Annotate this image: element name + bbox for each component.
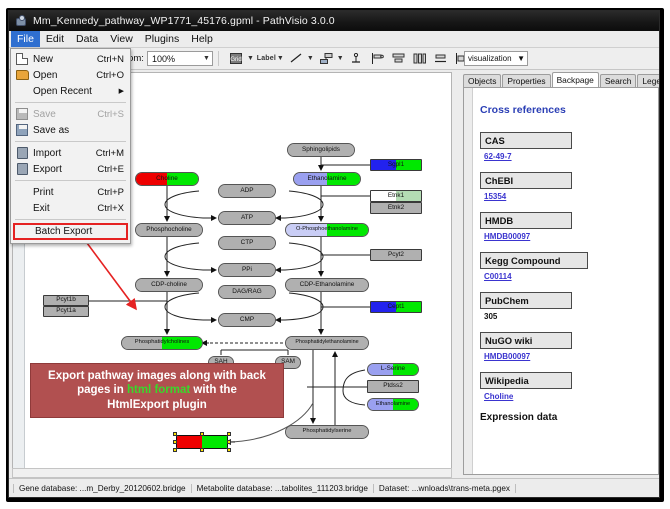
xref-link-kegg[interactable]: C00114 <box>484 272 512 281</box>
menu-separator <box>15 141 126 142</box>
xref-link-hmdb[interactable]: HMDB00097 <box>484 232 530 241</box>
xref-header-hmdb: HMDB <box>480 212 572 229</box>
xref-header-wikipedia: Wikipedia <box>480 372 572 389</box>
menu-item-shortcut: Ctrl+P <box>97 187 130 198</box>
menu-edit[interactable]: Edit <box>40 31 70 47</box>
menu-plugins[interactable]: Plugins <box>139 31 185 47</box>
menu-item-label: Print <box>33 187 97 198</box>
resize-handle-s[interactable] <box>200 448 204 452</box>
menu-item-save: Save Ctrl+S <box>11 106 130 122</box>
node-label: Cept1 <box>387 304 404 310</box>
node-choline-selected[interactable]: Choline <box>176 435 228 449</box>
annotation-callout: Export pathway images along with back pa… <box>30 363 284 418</box>
save-icon <box>11 108 33 120</box>
menu-data[interactable]: Data <box>70 31 104 47</box>
menu-help[interactable]: Help <box>185 31 219 47</box>
node-sphingolipids[interactable]: Sphingolipids <box>287 143 355 157</box>
node-label: CDP-Ethanolamine <box>300 282 355 288</box>
node-label: Pcyt2 <box>388 252 404 258</box>
grid-toggle-button[interactable]: Grid <box>228 51 245 67</box>
node-sgpl1[interactable]: Sgpl1 <box>370 159 422 171</box>
status-metabolite-database: Metabolite database: ...tabolites_111203… <box>192 484 374 493</box>
menu-item-new[interactable]: New Ctrl+N <box>11 51 130 67</box>
chevron-right-icon: ▶ <box>119 87 130 95</box>
node-label: CMP <box>240 317 254 323</box>
menu-item-label: Exit <box>33 203 97 214</box>
tab-search[interactable]: Search <box>600 74 637 87</box>
tab-legend[interactable]: Legend <box>637 74 660 87</box>
menu-item-export[interactable]: Export Ctrl+E <box>11 161 130 177</box>
node-fill-left <box>177 436 202 448</box>
align-middle-button[interactable] <box>411 51 428 67</box>
menu-item-label: Open <box>33 70 96 81</box>
xref-value-kegg[interactable]: C00114 <box>484 272 652 281</box>
shape-tool-button[interactable] <box>318 51 335 67</box>
panel-tabs: Objects Properties Backpage Search Legen… <box>463 72 659 87</box>
status-gene-database: Gene database: ...m_Derby_20120602.bridg… <box>13 484 192 493</box>
tab-objects[interactable]: Objects <box>463 74 501 87</box>
shape-dropdown-icon[interactable]: ▼ <box>337 55 344 62</box>
node-label: Phosphatidylcholines <box>135 340 189 346</box>
new-file-icon <box>11 53 33 65</box>
node-label: ATP <box>241 215 253 221</box>
node-adp[interactable]: ADP <box>218 184 276 198</box>
node-label: Pcyt1a <box>56 308 76 314</box>
node-label: DAG/RAG <box>232 289 261 295</box>
resize-handle-e[interactable] <box>227 440 231 444</box>
xref-value-wikipedia[interactable]: Choline <box>484 392 652 401</box>
menu-item-shortcut: Ctrl+M <box>96 148 130 159</box>
node-label: Etnk1 <box>388 193 404 199</box>
node-cdp-choline[interactable]: CDP-choline <box>135 278 203 292</box>
node-label: O-Phosphoethanolamine <box>296 227 358 233</box>
resize-handle-n[interactable] <box>200 432 204 436</box>
menu-item-label: Open Recent <box>33 86 119 97</box>
menu-item-shortcut: Ctrl+O <box>96 70 130 81</box>
callout-line-2-b: with the <box>190 384 237 396</box>
align-left-button[interactable] <box>369 51 386 67</box>
menu-item-label: Save as <box>33 125 124 136</box>
xref-value-cas[interactable]: 62-49-7 <box>484 152 652 161</box>
node-etnk2[interactable]: Etnk2 <box>370 202 422 214</box>
zoom-value: 100% <box>152 54 175 64</box>
menu-item-batch-export[interactable]: Batch Export <box>13 223 128 240</box>
title-bar: Mm_Kennedy_pathway_WP1771_45176.gpml - P… <box>9 11 660 31</box>
side-panel: Objects Properties Backpage Search Legen… <box>455 72 659 477</box>
menu-item-exit[interactable]: Exit Ctrl+X <box>11 200 130 216</box>
anchor-tool-button[interactable] <box>348 51 365 67</box>
svg-text:Grid: Grid <box>231 57 242 63</box>
node-label: PPi <box>242 267 252 273</box>
node-ethanolamine-top[interactable]: Ethanolamine <box>293 172 361 186</box>
node-choline[interactable]: Choline <box>135 172 199 186</box>
xref-value-chebi[interactable]: 15354 <box>484 192 652 201</box>
tab-properties[interactable]: Properties <box>502 74 550 87</box>
resize-handle-sw[interactable] <box>173 448 177 452</box>
panel-scrollbar[interactable] <box>464 88 473 474</box>
screenshot-root: Mm_Kennedy_pathway_WP1771_45176.gpml - P… <box>0 0 670 509</box>
menu-item-print[interactable]: Print Ctrl+P <box>11 184 130 200</box>
application-window: Mm_Kennedy_pathway_WP1771_45176.gpml - P… <box>8 10 660 498</box>
node-label: Ethanolamine <box>307 176 346 182</box>
resize-handle-se[interactable] <box>227 448 231 452</box>
xref-link-chebi[interactable]: 15354 <box>484 192 506 201</box>
xref-link-wikipedia[interactable]: Choline <box>484 392 513 401</box>
menu-item-shortcut: Ctrl+N <box>97 54 130 65</box>
xref-header-pubchem: PubChem <box>480 292 572 309</box>
status-dataset: Dataset: ...wnloads\trans-meta.pgex <box>374 484 516 493</box>
xref-header-kegg: Kegg Compound <box>480 252 588 269</box>
toolbar-separator <box>218 51 219 66</box>
file-menu-popup[interactable]: New Ctrl+N Open Ctrl+O Open Recent ▶ Sav… <box>10 48 131 244</box>
outer-frame: Mm_Kennedy_pathway_WP1771_45176.gpml - P… <box>0 0 670 509</box>
visualization-value: visualization <box>468 54 512 63</box>
menu-file[interactable]: File <box>11 31 40 47</box>
align-center-button[interactable] <box>390 51 407 67</box>
line-dropdown-icon[interactable]: ▼ <box>307 55 314 62</box>
export-icon <box>11 163 33 175</box>
menu-separator <box>15 102 126 103</box>
node-o-phosphoethanolamine[interactable]: O-Phosphoethanolamine <box>285 223 369 237</box>
node-label: CTP <box>241 240 254 246</box>
callout-highlight: html format <box>127 384 190 396</box>
menu-separator <box>15 219 126 220</box>
node-etnk1[interactable]: Etnk1 <box>370 190 422 202</box>
status-bar: Gene database: ...m_Derby_20120602.bridg… <box>9 478 660 497</box>
node-ethanolamine-bottom[interactable]: Ethanolamine <box>367 398 419 411</box>
xref-value-nugo[interactable]: HMDB00097 <box>484 352 652 361</box>
menu-view[interactable]: View <box>104 31 139 47</box>
open-folder-icon <box>11 70 33 80</box>
node-label: Ethanolamine <box>376 402 410 408</box>
label-dropdown-icon[interactable]: ▼ <box>277 55 284 62</box>
zoom-combo[interactable]: 100% ▼ <box>147 51 213 66</box>
node-ptdss2[interactable]: Ptdss2 <box>367 380 419 393</box>
xref-value-hmdb[interactable]: HMDB00097 <box>484 232 652 241</box>
node-cept1[interactable]: Cept1 <box>370 301 422 313</box>
window-title: Mm_Kennedy_pathway_WP1771_45176.gpml - P… <box>33 15 335 27</box>
grid-dropdown-icon[interactable]: ▼ <box>247 55 254 62</box>
node-label: Phosphatidylserine <box>303 429 352 435</box>
node-ctp[interactable]: CTP <box>218 236 276 250</box>
node-phosphatidylcholines[interactable]: Phosphatidylcholines <box>121 336 203 350</box>
node-label: Pcyt1b <box>56 297 76 303</box>
node-l-serine[interactable]: L-Serine <box>367 363 419 376</box>
menu-item-open-recent[interactable]: Open Recent ▶ <box>11 83 130 99</box>
pathvisio-icon <box>15 15 28 28</box>
resize-handle-nw[interactable] <box>173 432 177 436</box>
menu-item-save-as[interactable]: Save as <box>11 122 130 138</box>
node-phosphocholine[interactable]: Phosphocholine <box>135 223 203 237</box>
import-icon <box>11 147 33 159</box>
node-phosphatidylethanolamine[interactable]: Phosphatidylethanolamine <box>285 336 369 350</box>
backpage-panel: Cross references CAS 62-49-7 ChEBI 15354… <box>463 87 659 475</box>
cross-references-heading: Cross references <box>480 104 652 116</box>
node-label: Sgpl1 <box>388 162 404 168</box>
backpage-content: Cross references CAS 62-49-7 ChEBI 15354… <box>474 88 658 474</box>
callout-line-1: Export pathway images along with back <box>48 370 266 382</box>
selected-node-group[interactable]: Choline <box>176 435 228 449</box>
resize-handle-w[interactable] <box>173 440 177 444</box>
menu-bar: File Edit Data View Plugins Help <box>9 31 660 48</box>
menu-item-open[interactable]: Open Ctrl+O <box>11 67 130 83</box>
node-fill-right <box>202 436 227 448</box>
menu-item-import[interactable]: Import Ctrl+M <box>11 145 130 161</box>
menu-item-shortcut: Ctrl+E <box>97 164 130 175</box>
menu-item-label: Export <box>33 164 97 175</box>
stack-button[interactable] <box>432 51 449 67</box>
node-label: Etnk2 <box>388 205 404 211</box>
chevron-down-icon: ▼ <box>203 55 210 62</box>
node-pcyt1a[interactable]: Pcyt1a <box>43 306 89 317</box>
callout-line-3: HtmlExport plugin <box>107 399 207 411</box>
node-label: L-Serine <box>381 366 405 372</box>
canvas-hscrollbar[interactable] <box>12 468 452 478</box>
menu-item-label: Import <box>33 148 96 159</box>
xref-link-cas[interactable]: 62-49-7 <box>484 152 512 161</box>
node-pcyt1b[interactable]: Pcyt1b <box>43 295 89 306</box>
node-dag[interactable]: DAG/RAG <box>218 285 276 299</box>
label-button[interactable]: Label <box>258 51 275 67</box>
menu-item-shortcut: Ctrl+S <box>97 109 130 120</box>
node-label: Choline <box>156 176 178 182</box>
node-label: Phosphatidylethanolamine <box>295 340 358 345</box>
visualization-combo[interactable]: visualization ▼ <box>464 51 528 66</box>
node-label: Ptdss2 <box>383 383 403 389</box>
line-tool-button[interactable] <box>288 51 305 67</box>
menu-item-label: Batch Export <box>15 226 126 237</box>
menu-item-label: New <box>33 54 97 65</box>
node-atp[interactable]: ATP <box>218 211 276 225</box>
chevron-down-icon: ▼ <box>517 54 525 63</box>
node-ppi[interactable]: PPi <box>218 263 276 277</box>
xref-header-chebi: ChEBI <box>480 172 572 189</box>
node-label: ADP <box>240 188 253 194</box>
xref-link-nugo[interactable]: HMDB00097 <box>484 352 530 361</box>
save-as-icon <box>11 124 33 136</box>
menu-item-label: Save <box>33 109 97 120</box>
node-pcyt2[interactable]: Pcyt2 <box>370 249 422 261</box>
xref-header-cas: CAS <box>480 132 572 149</box>
node-cmp[interactable]: CMP <box>218 313 276 327</box>
expression-data-heading: Expression data <box>480 412 652 423</box>
callout-line-2-a: pages in <box>77 384 127 396</box>
xref-header-nugo: NuGO wiki <box>480 332 572 349</box>
node-cdp-ethanolamine[interactable]: CDP-Ethanolamine <box>285 278 369 292</box>
tab-backpage[interactable]: Backpage <box>552 72 599 87</box>
node-label: Phosphocholine <box>146 227 191 233</box>
node-label: CDP-choline <box>151 282 187 288</box>
menu-item-shortcut: Ctrl+X <box>97 203 130 214</box>
resize-handle-ne[interactable] <box>227 432 231 436</box>
node-phosphatidylserine[interactable]: Phosphatidylserine <box>285 425 369 439</box>
node-label: Sphingolipids <box>302 147 340 153</box>
menu-separator <box>15 180 126 181</box>
xref-value-pubchem: 305 <box>484 312 652 321</box>
